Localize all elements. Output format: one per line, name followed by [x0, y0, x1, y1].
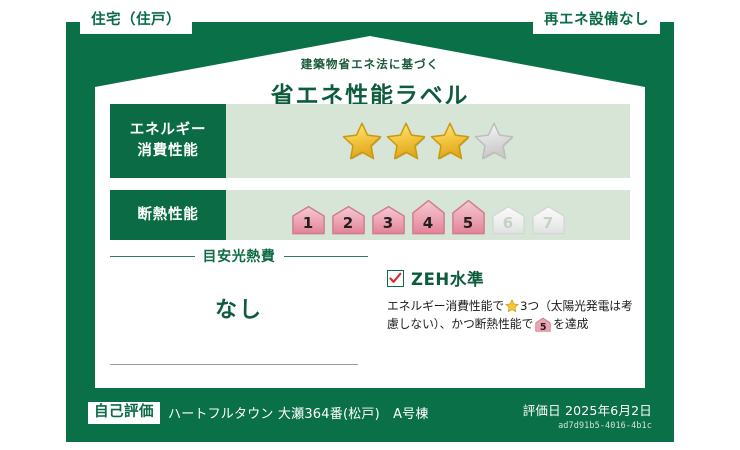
insulation-house-empty: 6: [490, 205, 527, 235]
zeh-checkbox: [387, 270, 404, 287]
zeh-title: ZEH水準: [411, 266, 484, 290]
insulation-level-number: 6: [490, 216, 527, 231]
footer-left-group: 自己評価 ハートフルタウン 大瀬364番(松戸) A号棟: [88, 402, 429, 424]
energy-label-line1: エネルギー: [130, 120, 207, 141]
insulation-level-number: 5: [450, 216, 487, 231]
insulation-house-filled: 5: [450, 199, 487, 235]
star-empty-icon: [474, 121, 514, 161]
utility-cost-heading-text: 目安光熱費: [203, 246, 276, 266]
insulation-house-filled: 3: [370, 205, 407, 235]
insulation-performance-value: 1234567: [226, 190, 630, 240]
energy-performance-label: エネルギー 消費性能: [110, 104, 226, 178]
insulation-level-scale: 1234567: [290, 199, 567, 240]
insulation-house-empty: 7: [530, 205, 567, 235]
insulation-level-number: 4: [410, 216, 447, 231]
title-subtitle: 建築物省エネ法に基づく: [66, 56, 674, 72]
utility-cost-value: なし: [110, 292, 368, 324]
heading-rule-left: [110, 256, 195, 257]
insulation-house-filled: 2: [330, 205, 367, 235]
zeh-heading: ZEH水準: [387, 266, 637, 290]
evaluation-id: ad7d91b5-4016-4b1c: [523, 421, 652, 431]
star-filled-icon: [430, 121, 470, 161]
zeh-desc-pre: エネルギー消費性能で: [387, 299, 504, 313]
star-filled-icon: [342, 121, 382, 161]
zeh-desc-post: を達成: [553, 317, 588, 331]
insulation-performance-label: 断熱性能: [110, 190, 226, 240]
footer-right-group: 評価日 2025年6月2日 ad7d91b5-4016-4b1c: [523, 400, 652, 431]
zeh-description: エネルギー消費性能で 3つ（太陽光発電は考慮しない）、かつ断熱性能で 5を達成: [387, 297, 637, 334]
insulation-performance-row: 断熱性能 1234567: [110, 190, 630, 240]
label-title-block: 建築物省エネ法に基づく 省エネ性能ラベル: [66, 56, 674, 110]
insulation-label-text: 断熱性能: [137, 205, 198, 226]
label-footer: 自己評価 ハートフルタウン 大瀬364番(松戸) A号棟 評価日 2025年6月…: [66, 398, 674, 442]
insulation-level-number: 1: [290, 216, 327, 231]
insulation-level-number: 7: [530, 216, 567, 231]
heading-rule-right: [284, 256, 369, 257]
energy-performance-row: エネルギー 消費性能: [110, 104, 630, 178]
insulation-level-number: 2: [330, 216, 367, 231]
inline-house-icon: 5: [535, 317, 551, 332]
energy-performance-label: 住宅（住戸） 再エネ設備なし 建築物省エネ法に基づく 省エネ性能ラベル エネルギ…: [66, 0, 674, 442]
insulation-house-filled: 4: [410, 199, 447, 235]
self-evaluation-badge: 自己評価: [88, 402, 160, 424]
energy-performance-value: [226, 104, 630, 178]
insulation-level-number: 3: [370, 216, 407, 231]
utility-cost-block: 目安光熱費 なし: [110, 246, 368, 324]
property-name: ハートフルタウン 大瀬364番(松戸) A号棟: [168, 403, 429, 422]
utility-cost-heading: 目安光熱費: [110, 246, 368, 266]
utility-cost-underline: [110, 364, 358, 365]
energy-label-line2: 消費性能: [137, 141, 198, 162]
inline-star-icon: [505, 299, 519, 313]
insulation-house-filled: 1: [290, 205, 327, 235]
inline-house-level: 5: [535, 323, 551, 333]
evaluation-date: 評価日 2025年6月2日: [523, 400, 652, 419]
tag-renewable-energy: 再エネ設備なし: [533, 8, 660, 34]
zeh-standard-block: ZEH水準 エネルギー消費性能で 3つ（太陽光発電は考慮しない）、かつ断熱性能で…: [387, 266, 637, 334]
star-filled-icon: [386, 121, 426, 161]
star-rating: [342, 121, 514, 161]
tag-building-type: 住宅（住戸）: [80, 8, 192, 34]
